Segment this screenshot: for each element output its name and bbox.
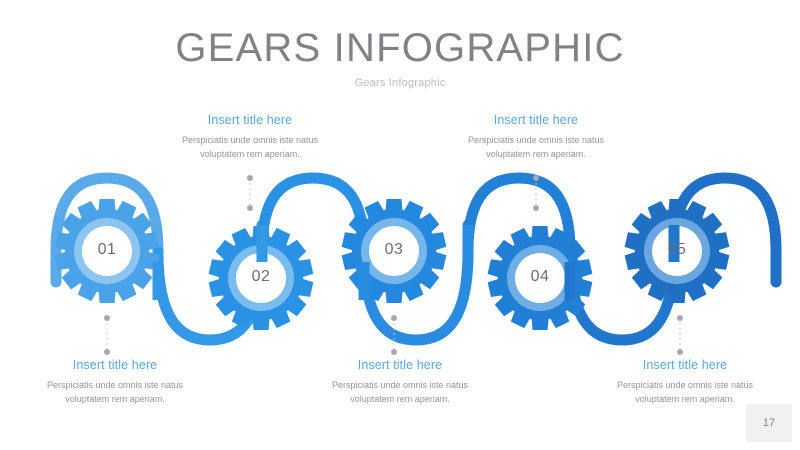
step-title-04: Insert title here — [446, 113, 626, 127]
step-body-04: Perspiciatis unde omnis iste natus volup… — [446, 134, 626, 161]
gear-number-04: 04 — [510, 268, 570, 286]
step-text-block-01[interactable]: Insert title here Perspiciatis unde omni… — [25, 358, 205, 406]
step-title-03: Insert title here — [310, 358, 490, 372]
step-text-block-05[interactable]: Insert title here Perspiciatis unde omni… — [595, 358, 775, 406]
page-number: 17 — [763, 417, 775, 429]
step-body-02: Perspiciatis unde omnis iste natus volup… — [160, 134, 340, 161]
slide-canvas: GEARS INFOGRAPHIC Gears Infographic — [0, 0, 800, 450]
gear-number-05: 05 — [647, 241, 707, 259]
gear-number-01: 01 — [77, 241, 137, 259]
gear-number-03: 03 — [364, 241, 424, 259]
connector-05 — [677, 315, 683, 355]
step-body-03: Perspiciatis unde omnis iste natus volup… — [310, 379, 490, 406]
gear-number-02: 02 — [231, 268, 291, 286]
step-body-01: Perspiciatis unde omnis iste natus volup… — [25, 379, 205, 406]
step-title-02: Insert title here — [160, 113, 340, 127]
step-text-block-03[interactable]: Insert title here Perspiciatis unde omni… — [310, 358, 490, 406]
connector-01 — [104, 315, 110, 355]
step-text-block-04[interactable]: Insert title here Perspiciatis unde omni… — [446, 113, 626, 161]
step-text-block-02[interactable]: Insert title here Perspiciatis unde omni… — [160, 113, 340, 161]
step-title-05: Insert title here — [595, 358, 775, 372]
step-body-05: Perspiciatis unde omnis iste natus volup… — [595, 379, 775, 406]
connector-02 — [247, 175, 253, 211]
step-title-01: Insert title here — [25, 358, 205, 372]
page-number-badge: 17 — [746, 404, 792, 442]
